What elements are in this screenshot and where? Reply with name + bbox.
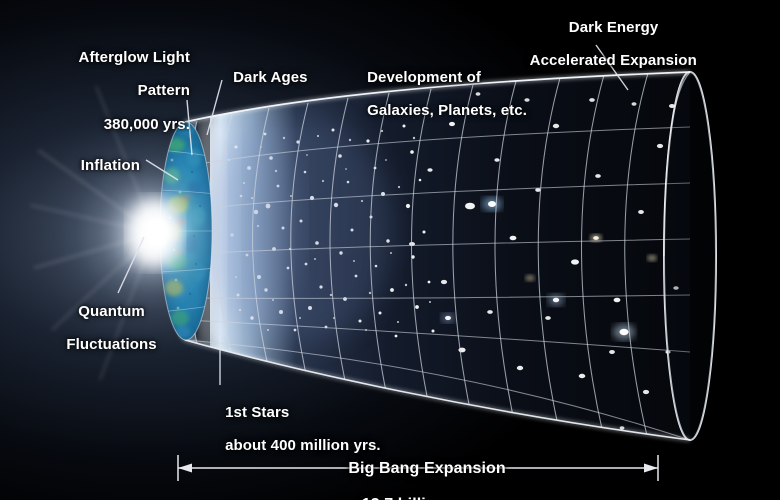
label-afterglow-light-pattern: Afterglow Light Pattern 380,000 yrs. xyxy=(38,33,190,151)
label-inflation: Inflation xyxy=(10,141,140,191)
label-dark-ages: Dark Ages xyxy=(216,53,308,103)
afterglow-line-2: Pattern xyxy=(138,82,190,99)
dark-ages-text: Dark Ages xyxy=(233,69,308,86)
cone-mouth xyxy=(664,72,716,440)
big-bang-text: Big Bang Expansion xyxy=(348,460,505,477)
inflation-text: Inflation xyxy=(81,157,140,174)
development-line-2: Galaxies, Planets, etc. xyxy=(367,102,527,119)
afterglow-line-3: 380,000 yrs. xyxy=(104,116,190,133)
universe-expansion-figure: Afterglow Light Pattern 380,000 yrs. Dar… xyxy=(0,0,780,500)
label-quantum-fluctuations: Quantum Fluctuations xyxy=(40,287,166,371)
quantum-line-1: Quantum xyxy=(78,303,145,320)
label-dark-energy-accelerated-expansion: Dark Energy Accelerated Expansion xyxy=(490,3,720,87)
afterglow-line-1: Afterglow Light xyxy=(79,49,190,66)
dark-energy-line-2: Accelerated Expansion xyxy=(530,52,697,69)
age-text: 13.7 billion years xyxy=(362,496,493,500)
quantum-line-2: Fluctuations xyxy=(66,336,156,353)
dark-energy-line-1: Dark Energy xyxy=(569,19,658,36)
label-age-of-universe: 13.7 billion years xyxy=(238,478,598,500)
first-stars-line-1: 1st Stars xyxy=(225,404,289,421)
development-line-1: Development of xyxy=(367,69,481,86)
